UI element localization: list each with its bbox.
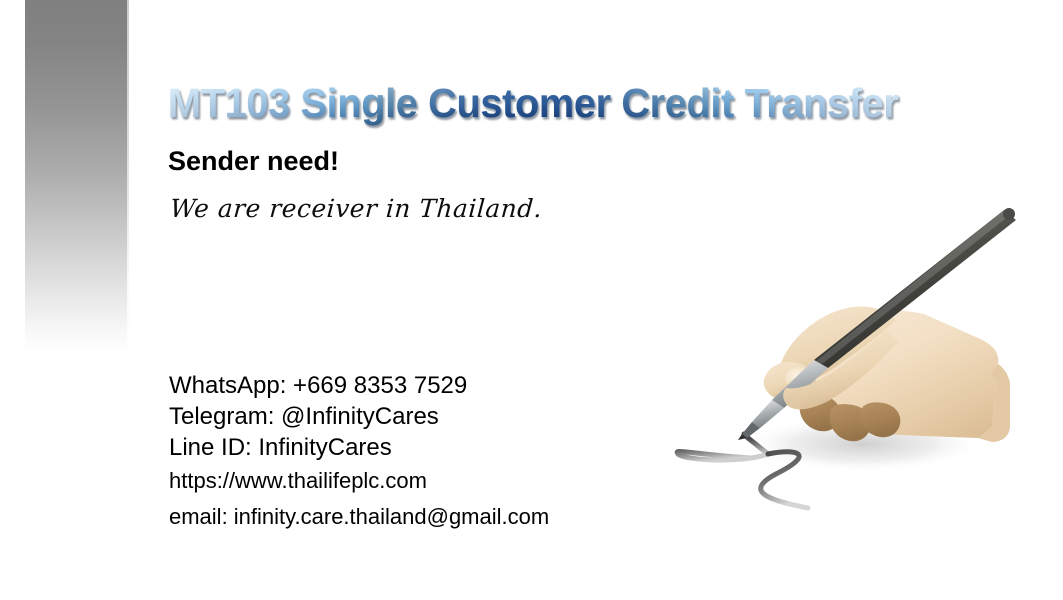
- contact-block: WhatsApp: +669 8353 7529 Telegram: @Infi…: [169, 370, 729, 535]
- contact-line-website[interactable]: https://www.thailifeplc.com: [169, 463, 729, 499]
- pen-cap-end: [1003, 208, 1015, 220]
- contact-line-email[interactable]: email: infinity.care.thailand@gmail.com: [169, 499, 729, 535]
- contact-line-whatsapp: WhatsApp: +669 8353 7529: [169, 370, 729, 401]
- contact-line-lineid: Line ID: InfinityCares: [169, 432, 729, 463]
- slide-canvas: MT103 Single Customer Credit Transfer MT…: [0, 0, 1063, 600]
- subheading: Sender need!: [168, 144, 339, 178]
- hand-writing-pen-illustration: [648, 186, 1048, 516]
- page-title-text: MT103 Single Customer Credit Transfer: [168, 80, 898, 126]
- left-gradient-bar-edge: [127, 0, 129, 352]
- contact-line-telegram: Telegram: @InfinityCares: [169, 401, 729, 432]
- left-gradient-bar: [25, 0, 127, 352]
- script-statement: We are receiver in Thailand.: [169, 192, 543, 226]
- page-title: MT103 Single Customer Credit Transfer: [168, 79, 898, 127]
